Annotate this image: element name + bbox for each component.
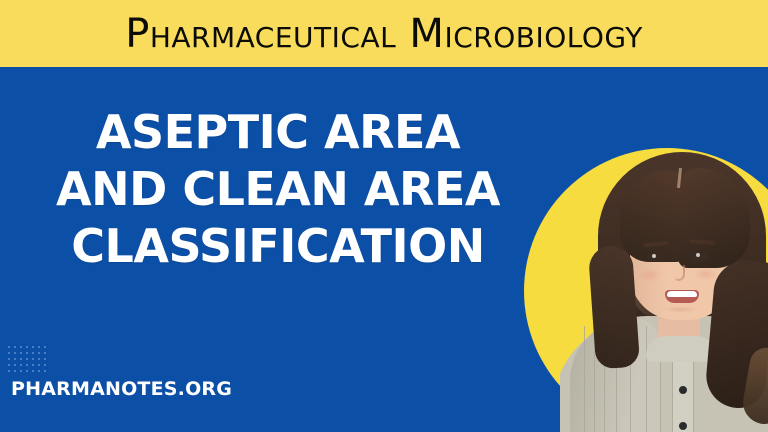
- chin-shading: [664, 306, 698, 313]
- poster-canvas: Pharmaceutical Microbiology: [0, 0, 768, 432]
- portrait-stage: [560, 150, 768, 432]
- eye-highlight-left: [652, 254, 656, 258]
- headline-line-2: AND CLEAN AREA: [12, 161, 544, 218]
- cheek-blush-left: [638, 268, 662, 282]
- mouth: [665, 290, 699, 303]
- header-title: Pharmaceutical Microbiology: [125, 12, 643, 56]
- shirt-pinstripe: [584, 326, 585, 432]
- headline-line-3: CLASSIFICATION: [12, 218, 544, 275]
- headline-line-1: ASEPTIC AREA: [12, 104, 544, 161]
- hair-strand-left: [588, 245, 640, 370]
- eye-highlight-right: [696, 253, 700, 257]
- header-band: Pharmaceutical Microbiology: [0, 0, 768, 67]
- dot-grid-icon: [6, 344, 50, 376]
- shirt-button: [679, 422, 687, 430]
- eye-right: [691, 252, 709, 261]
- watermark-site-name: PHARMANOTES.ORG: [11, 378, 232, 400]
- portrait-image: [560, 150, 768, 432]
- teeth: [667, 291, 697, 297]
- shirt-button: [679, 386, 687, 394]
- headline-block: ASEPTIC AREA AND CLEAN AREA CLASSIFICATI…: [0, 104, 556, 275]
- eye-left: [647, 253, 665, 262]
- shirt-pinstripe: [646, 326, 647, 432]
- cheek-blush-right: [694, 267, 718, 281]
- shirt-collar: [646, 336, 716, 362]
